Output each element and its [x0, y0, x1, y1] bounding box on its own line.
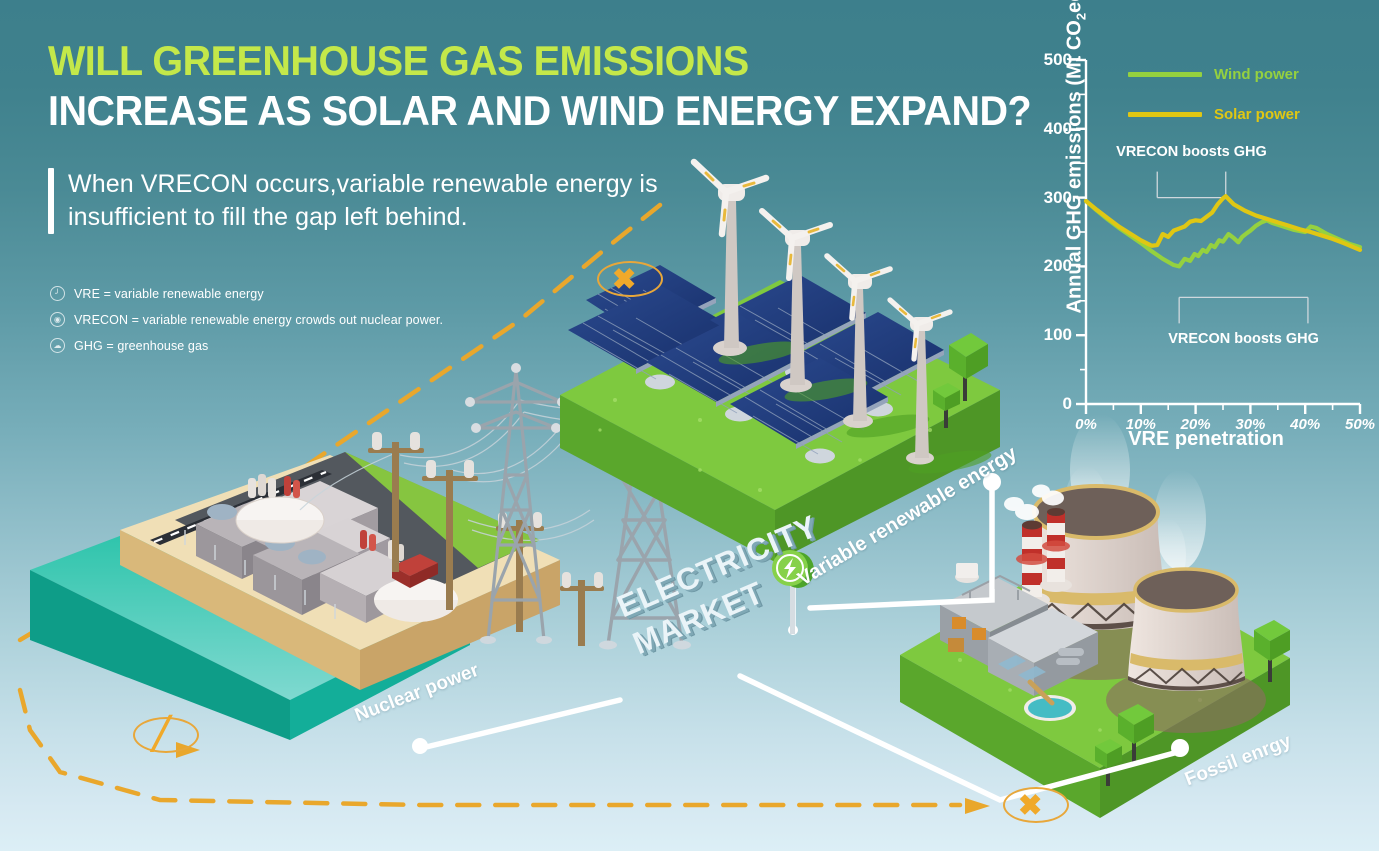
subtitle-line-1: When VRECON occurs,variable renewable en… — [68, 168, 658, 201]
slash-marker-nuclear: ╱ — [152, 718, 171, 749]
legend-label-solar: Solar power — [1214, 106, 1300, 123]
flow-arrow-bottom — [965, 798, 990, 814]
subtitle-text: When VRECON occurs,variable renewable en… — [68, 168, 658, 234]
legend-label-wind: Wind power — [1214, 66, 1299, 83]
chart-plot-area — [1008, 36, 1368, 456]
abbreviation-text: VRE = variable renewable energy — [74, 287, 264, 301]
headline-line-2: INCREASE AS SOLAR AND WIND ENERGY EXPAND… — [48, 86, 913, 136]
chart-annotation-bracket — [1157, 172, 1226, 198]
subtitle-accent-bar — [48, 168, 54, 234]
cross-marker-fossil: ✖ — [1018, 792, 1042, 821]
headline-line-1: WILL GREENHOUSE GAS EMISSIONS — [48, 36, 913, 86]
subtitle-line-2: insufficient to fill the gap left behind… — [68, 201, 658, 234]
ghg-emissions-chart: Annual GHG emissions (Mt CO2eq) VRE pene… — [1008, 36, 1368, 456]
abbreviation-legend: ╯ VRE = variable renewable energy ◉ VREC… — [50, 286, 443, 364]
subtitle-block: When VRECON occurs,variable renewable en… — [48, 168, 688, 234]
legend-swatch-wind — [1128, 72, 1202, 77]
page-title: WILL GREENHOUSE GAS EMISSIONS INCREASE A… — [48, 36, 968, 135]
legend-item-solar[interactable]: Solar power — [1128, 106, 1300, 123]
infographic-canvas: ✖ ╱ ✖ Nuclear power Variable renewable e… — [0, 0, 1379, 851]
nuclear-power-platform — [30, 452, 560, 740]
smoke-cloud-icon: ☁ — [50, 338, 65, 353]
chart-annotation-bracket — [1179, 297, 1308, 323]
abbreviation-row: ☁ GHG = greenhouse gas — [50, 338, 443, 353]
leaf-icon: ╯ — [50, 286, 65, 301]
legend-item-wind[interactable]: Wind power — [1128, 66, 1299, 83]
legend-swatch-solar — [1128, 112, 1202, 117]
abbreviation-row: ◉ VRECON = variable renewable energy cro… — [50, 312, 443, 327]
abbreviation-text: GHG = greenhouse gas — [74, 339, 208, 353]
cross-marker-vre: ✖ — [612, 266, 636, 295]
abbreviation-row: ╯ VRE = variable renewable energy — [50, 286, 443, 301]
chart-annotation-upper: VRECON boosts GHG — [1116, 144, 1267, 160]
abbreviation-text: VRECON = variable renewable energy crowd… — [74, 313, 443, 327]
circle-target-icon: ◉ — [50, 312, 65, 327]
chart-annotation-lower: VRECON boosts GHG — [1168, 331, 1319, 347]
